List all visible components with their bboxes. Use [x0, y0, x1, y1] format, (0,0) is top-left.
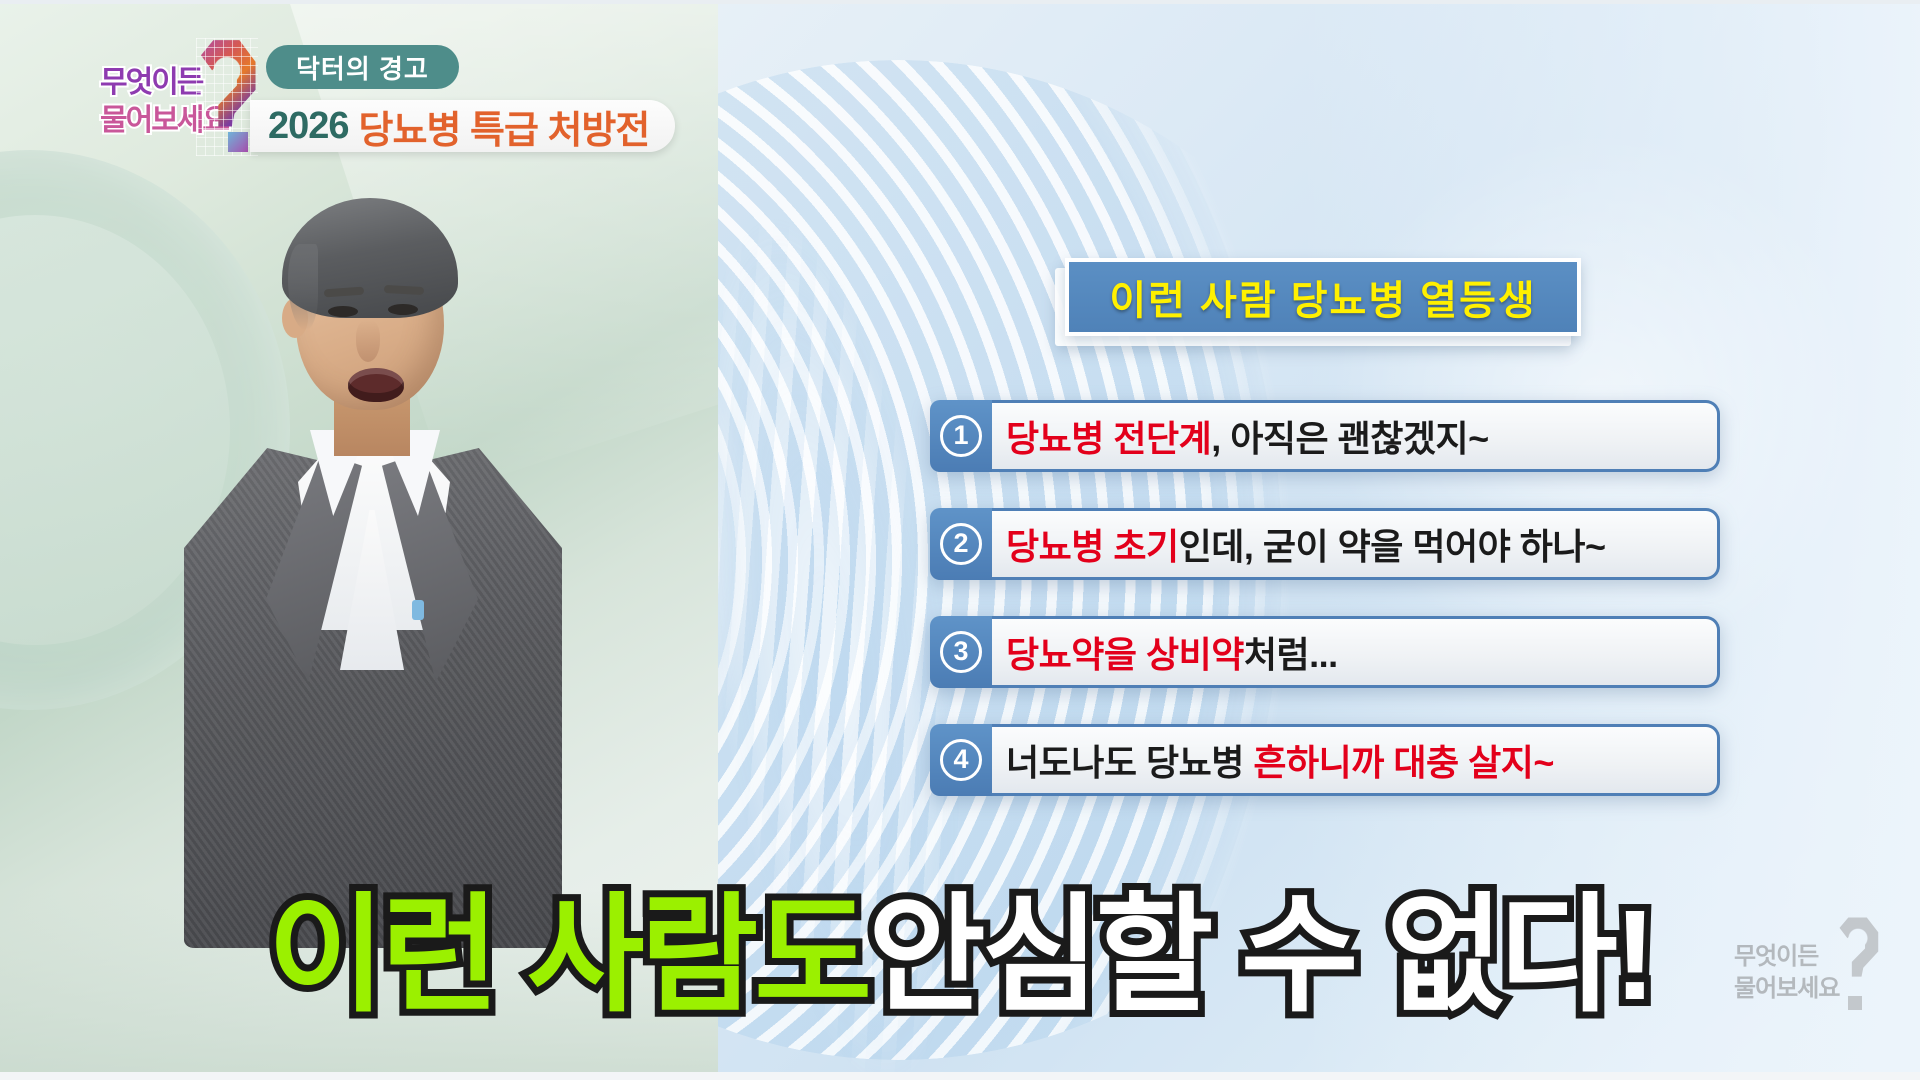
- list-item-rest: 인데, 굳이 약을 먹어야 하나~: [1179, 518, 1606, 570]
- list-item-text: 당뇨병 초기인데, 굳이 약을 먹어야 하나~: [984, 508, 1720, 580]
- question-mark-dot-icon: [228, 132, 248, 152]
- list-item-number-badge: 3: [930, 616, 992, 688]
- watermark-line2: 물어보세요: [1734, 968, 1839, 1003]
- list-item-number: 1: [940, 415, 982, 457]
- channel-watermark: 무엇이든 물어보세요: [1734, 914, 1874, 1024]
- list-item-text: 너도나도 당뇨병 흔하니까 대충 살지~: [984, 724, 1720, 796]
- list-item[interactable]: 1 당뇨병 전단계, 아직은 괜찮겠지~: [930, 400, 1720, 472]
- list-item-prefix: 너도나도 당뇨병: [1006, 734, 1244, 786]
- list-item-text: 당뇨약을 상비약처럼...: [984, 616, 1720, 688]
- segment-badge: 닥터의 경고: [266, 45, 459, 89]
- watermark-line1: 무엇이든: [1734, 936, 1818, 971]
- speaker-eye-right: [388, 304, 418, 315]
- list-item-highlight: 당뇨약을 상비약: [1006, 626, 1244, 678]
- list-item-rest: , 아직은 괜찮겠지~: [1211, 410, 1488, 462]
- frame-bottom-edge: [0, 1072, 1920, 1080]
- panel-header: 이런 사람 당뇨병 열등생: [1065, 258, 1581, 336]
- panel-header-box: 이런 사람 당뇨병 열등생: [1065, 258, 1581, 336]
- speaker-nose: [356, 320, 380, 362]
- list-item-number: 3: [940, 631, 982, 673]
- program-logo-line1: 무엇이든: [100, 68, 202, 98]
- segment-title-bar: 2026 당뇨병 특급 처방전: [250, 100, 675, 152]
- segment-badge-label: 닥터의 경고: [296, 49, 429, 86]
- list-item[interactable]: 3 당뇨약을 상비약처럼...: [930, 616, 1720, 688]
- speaker-figure: [170, 180, 570, 940]
- list-item-number-badge: 4: [930, 724, 992, 796]
- panel-header-title: 이런 사람 당뇨병 열등생: [1109, 268, 1536, 326]
- speaker-eye-left: [328, 306, 358, 317]
- symptom-list: 1 당뇨병 전단계, 아직은 괜찮겠지~ 2 당뇨병 초기인데, 굳이 약을 먹…: [930, 400, 1720, 832]
- program-logo-line2: 물어보세요: [100, 106, 228, 136]
- segment-title-main: 당뇨병 특급 처방전: [359, 99, 650, 154]
- list-item-number-badge: 1: [930, 400, 992, 472]
- frame-top-edge: [0, 0, 1920, 4]
- studio-left-panel: [0, 0, 718, 1080]
- watermark-question-mark-icon: [1836, 916, 1880, 990]
- watermark-question-dot-icon: [1848, 996, 1862, 1010]
- broadcast-frame: 이런 사람 당뇨병 열등생 1 당뇨병 전단계, 아직은 괜찮겠지~ 2 당뇨병…: [0, 0, 1920, 1080]
- segment-title-year: 2026: [268, 105, 349, 148]
- list-item-highlight: 당뇨병 초기: [1006, 518, 1179, 570]
- list-item-text: 당뇨병 전단계, 아직은 괜찮겠지~: [984, 400, 1720, 472]
- list-item-number: 2: [940, 523, 982, 565]
- list-item-highlight: 흔하니까 대충 살지~: [1253, 734, 1554, 786]
- list-item-number: 4: [940, 739, 982, 781]
- list-item-number-badge: 2: [930, 508, 992, 580]
- list-item[interactable]: 4 너도나도 당뇨병 흔하니까 대충 살지~: [930, 724, 1720, 796]
- speaker-hair: [282, 198, 458, 318]
- speaker-mic-pin: [412, 600, 424, 620]
- program-logo: 무엇이든 물어보세요: [100, 58, 230, 154]
- list-item-highlight: 당뇨병 전단계: [1006, 410, 1211, 462]
- list-item[interactable]: 2 당뇨병 초기인데, 굳이 약을 먹어야 하나~: [930, 508, 1720, 580]
- speaker-mouth: [348, 368, 404, 402]
- list-item-rest: 처럼...: [1244, 626, 1338, 678]
